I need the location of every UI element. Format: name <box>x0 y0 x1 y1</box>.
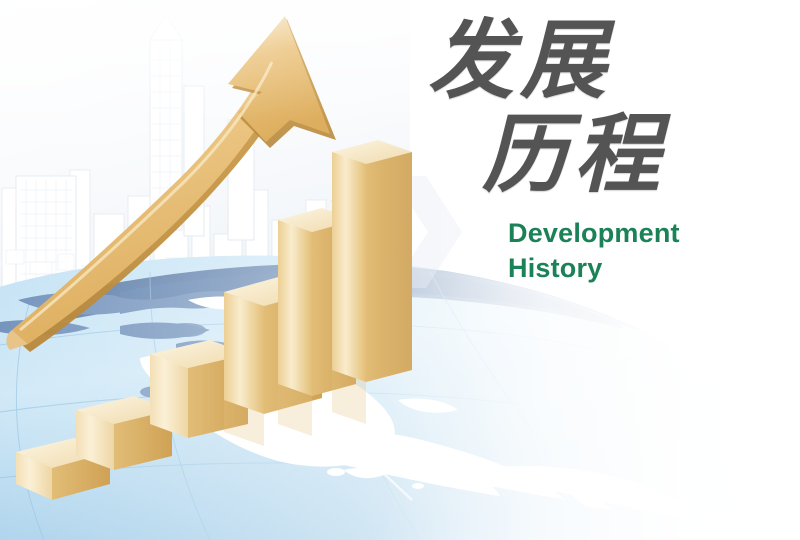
title-english-line-1: Development <box>508 216 724 251</box>
title-cjk-line-2: 历程 <box>482 112 724 198</box>
development-history-banner: 发展 历程 Development History <box>0 0 800 540</box>
title-block: 发展 历程 Development History <box>424 18 724 285</box>
title-cjk-line-1: 发展 <box>428 18 724 104</box>
title-english-line-2: History <box>508 251 724 286</box>
title-english-block: Development History <box>508 216 724 285</box>
